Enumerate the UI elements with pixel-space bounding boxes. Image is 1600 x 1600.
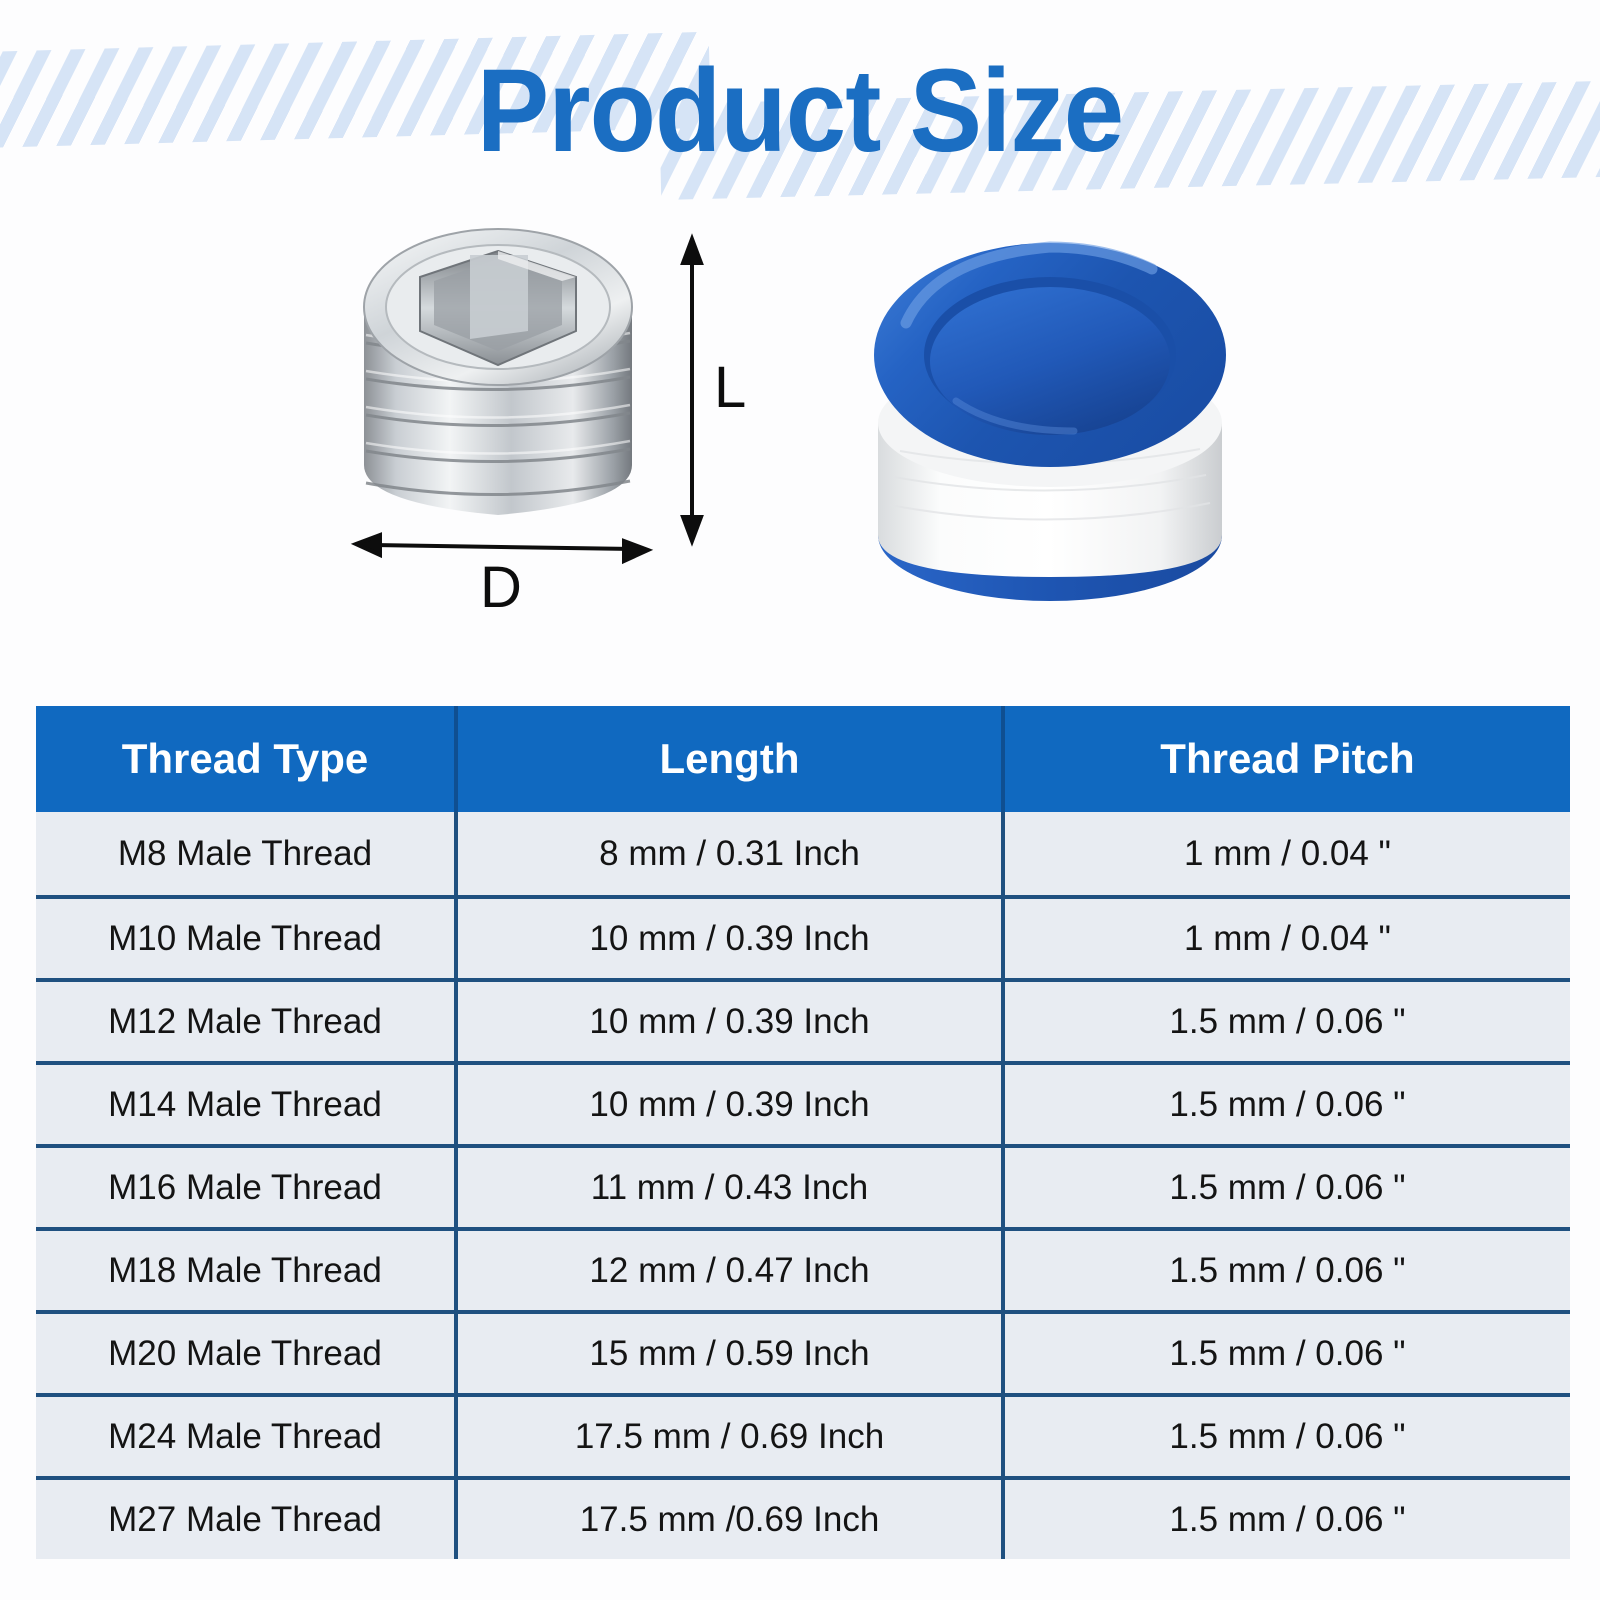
cell-length: 10 mm / 0.39 Inch	[458, 895, 1005, 978]
hex-socket-plug-image: L D	[340, 215, 760, 615]
cell-thread-pitch: 1 mm / 0.04 "	[1005, 895, 1570, 978]
cell-thread-type: M12 Male Thread	[36, 978, 458, 1061]
cell-thread-type: M10 Male Thread	[36, 895, 458, 978]
cell-length: 15 mm / 0.59 Inch	[458, 1310, 1005, 1393]
title-banner: Product Size	[0, 0, 1600, 200]
cell-thread-pitch: 1.5 mm / 0.06 "	[1005, 1227, 1570, 1310]
cell-length: 17.5 mm / 0.69 Inch	[458, 1393, 1005, 1476]
cell-length: 11 mm / 0.43 Inch	[458, 1144, 1005, 1227]
cell-thread-type: M16 Male Thread	[36, 1144, 458, 1227]
table-row: M16 Male Thread 11 mm / 0.43 Inch 1.5 mm…	[36, 1144, 1570, 1227]
column-header-thread-pitch: Thread Pitch	[1005, 706, 1570, 812]
cell-length: 10 mm / 0.39 Inch	[458, 978, 1005, 1061]
svg-text:L: L	[714, 355, 746, 420]
table-header-row: Thread Type Length Thread Pitch	[36, 706, 1570, 812]
cell-length: 17.5 mm /0.69 Inch	[458, 1476, 1005, 1559]
length-dimension-arrow	[683, 239, 701, 541]
table-row: M12 Male Thread 10 mm / 0.39 Inch 1.5 mm…	[36, 978, 1570, 1061]
cell-thread-pitch: 1 mm / 0.04 "	[1005, 812, 1570, 895]
cell-length: 12 mm / 0.47 Inch	[458, 1227, 1005, 1310]
ptfe-tape-roll-image	[860, 205, 1240, 625]
cell-thread-pitch: 1.5 mm / 0.06 "	[1005, 1144, 1570, 1227]
column-header-thread-type: Thread Type	[36, 706, 458, 812]
cell-thread-type: M27 Male Thread	[36, 1476, 458, 1559]
column-header-length: Length	[458, 706, 1005, 812]
svg-text:D: D	[480, 555, 522, 615]
table-row: M14 Male Thread 10 mm / 0.39 Inch 1.5 mm…	[36, 1061, 1570, 1144]
product-images: L D	[0, 205, 1600, 685]
cell-length: 10 mm / 0.39 Inch	[458, 1061, 1005, 1144]
cell-length: 8 mm / 0.31 Inch	[458, 812, 1005, 895]
cell-thread-type: M14 Male Thread	[36, 1061, 458, 1144]
product-size-page: Product Size	[0, 0, 1600, 1600]
table-row: M24 Male Thread 17.5 mm / 0.69 Inch 1.5 …	[36, 1393, 1570, 1476]
cell-thread-pitch: 1.5 mm / 0.06 "	[1005, 1061, 1570, 1144]
cell-thread-pitch: 1.5 mm / 0.06 "	[1005, 1393, 1570, 1476]
cell-thread-pitch: 1.5 mm / 0.06 "	[1005, 978, 1570, 1061]
table-row: M10 Male Thread 10 mm / 0.39 Inch 1 mm /…	[36, 895, 1570, 978]
table-row: M8 Male Thread 8 mm / 0.31 Inch 1 mm / 0…	[36, 812, 1570, 895]
page-title: Product Size	[64, 52, 1536, 170]
table-row: M27 Male Thread 17.5 mm /0.69 Inch 1.5 m…	[36, 1476, 1570, 1559]
table-body: M8 Male Thread 8 mm / 0.31 Inch 1 mm / 0…	[36, 812, 1570, 1559]
cell-thread-type: M18 Male Thread	[36, 1227, 458, 1310]
table-row: M18 Male Thread 12 mm / 0.47 Inch 1.5 mm…	[36, 1227, 1570, 1310]
cell-thread-pitch: 1.5 mm / 0.06 "	[1005, 1476, 1570, 1559]
cell-thread-pitch: 1.5 mm / 0.06 "	[1005, 1310, 1570, 1393]
cell-thread-type: M8 Male Thread	[36, 812, 458, 895]
specification-table: Thread Type Length Thread Pitch M8 Male …	[36, 706, 1570, 1559]
cell-thread-type: M20 Male Thread	[36, 1310, 458, 1393]
cell-thread-type: M24 Male Thread	[36, 1393, 458, 1476]
table-row: M20 Male Thread 15 mm / 0.59 Inch 1.5 mm…	[36, 1310, 1570, 1393]
